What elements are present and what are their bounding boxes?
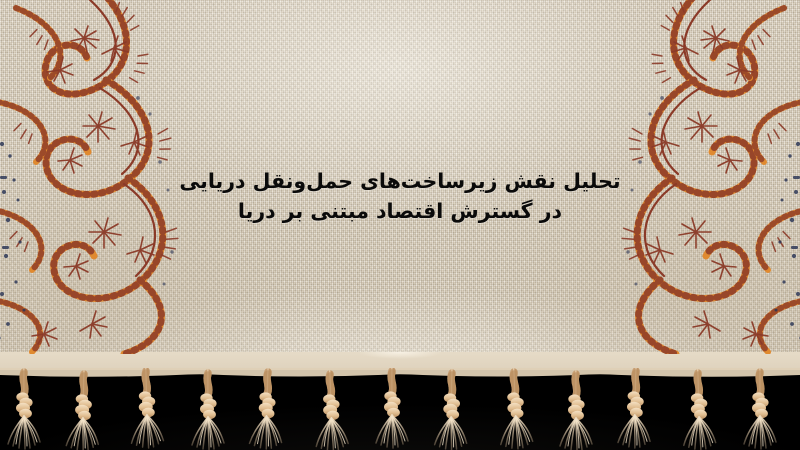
knotted-tassel-fringe — [0, 368, 800, 450]
slide-title: تحلیل نقش زیرساخت‌های حمل‌ونقل دریایی در… — [0, 166, 800, 226]
title-line-1: تحلیل نقش زیرساخت‌های حمل‌ونقل دریایی — [0, 166, 800, 196]
slide-canvas: تحلیل نقش زیرساخت‌های حمل‌ونقل دریایی در… — [0, 0, 800, 450]
title-line-2: در گسترش اقتصاد مبتنی بر دریا — [0, 196, 800, 226]
